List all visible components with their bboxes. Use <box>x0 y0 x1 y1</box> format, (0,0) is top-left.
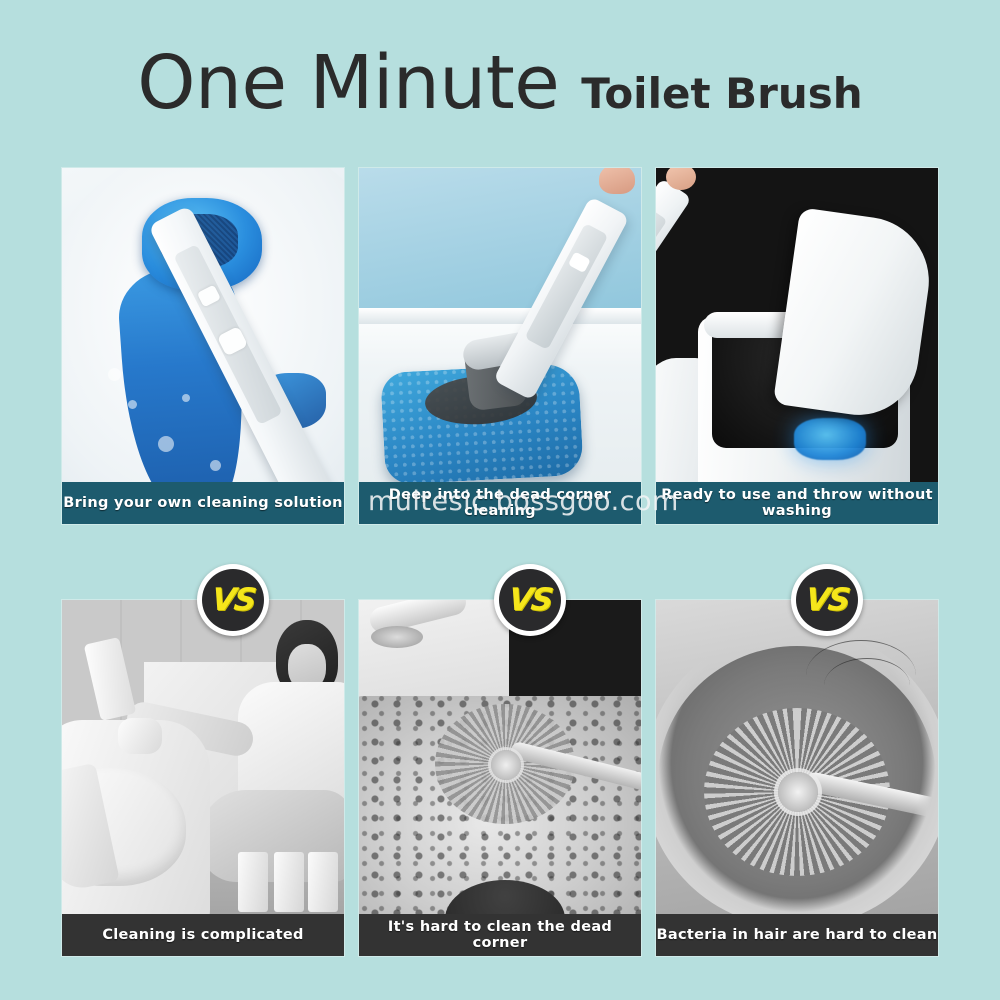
panel-5-photo <box>359 600 641 956</box>
vs-badge-1: VS <box>197 564 269 636</box>
panel-3-photo <box>656 168 938 524</box>
vs-badge-label: VS <box>210 582 256 618</box>
vs-badge-disc: VS <box>499 569 561 631</box>
vs-badge-3: VS <box>791 564 863 636</box>
panel-1-photo <box>62 168 344 524</box>
panel-3-caption: Ready to use and throw without washing <box>656 482 938 524</box>
vs-badge-2: VS <box>494 564 566 636</box>
vs-badge-disc: VS <box>796 569 858 631</box>
page-title: One Minute Toilet Brush <box>0 46 1000 126</box>
panel-4-photo <box>62 600 344 956</box>
panel-1-caption: Bring your own cleaning solution <box>62 482 344 524</box>
vs-badge-label: VS <box>804 582 850 618</box>
vs-badge-disc: VS <box>202 569 264 631</box>
panel-6[interactable]: Bacteria in hair are hard to clean <box>656 600 938 956</box>
feature-grid: Bring your own cleaning solution Deep in… <box>62 168 938 956</box>
panel-5[interactable]: It's hard to clean the dead corner <box>359 600 641 956</box>
panel-2-caption: Deep into the dead corner cleaning <box>359 482 641 524</box>
vs-badge-label: VS <box>507 582 553 618</box>
title-sub: Toilet Brush <box>581 73 862 115</box>
panel-2-photo <box>359 168 641 524</box>
title-main: One Minute <box>137 46 559 120</box>
panel-1[interactable]: Bring your own cleaning solution <box>62 168 344 524</box>
panel-2[interactable]: Deep into the dead corner cleaning <box>359 168 641 524</box>
panel-5-caption: It's hard to clean the dead corner <box>359 914 641 956</box>
panel-3[interactable]: Ready to use and throw without washing <box>656 168 938 524</box>
panel-6-caption: Bacteria in hair are hard to clean <box>656 914 938 956</box>
panel-6-photo <box>656 600 938 956</box>
panel-4-caption: Cleaning is complicated <box>62 914 344 956</box>
panel-4[interactable]: Cleaning is complicated <box>62 600 344 956</box>
